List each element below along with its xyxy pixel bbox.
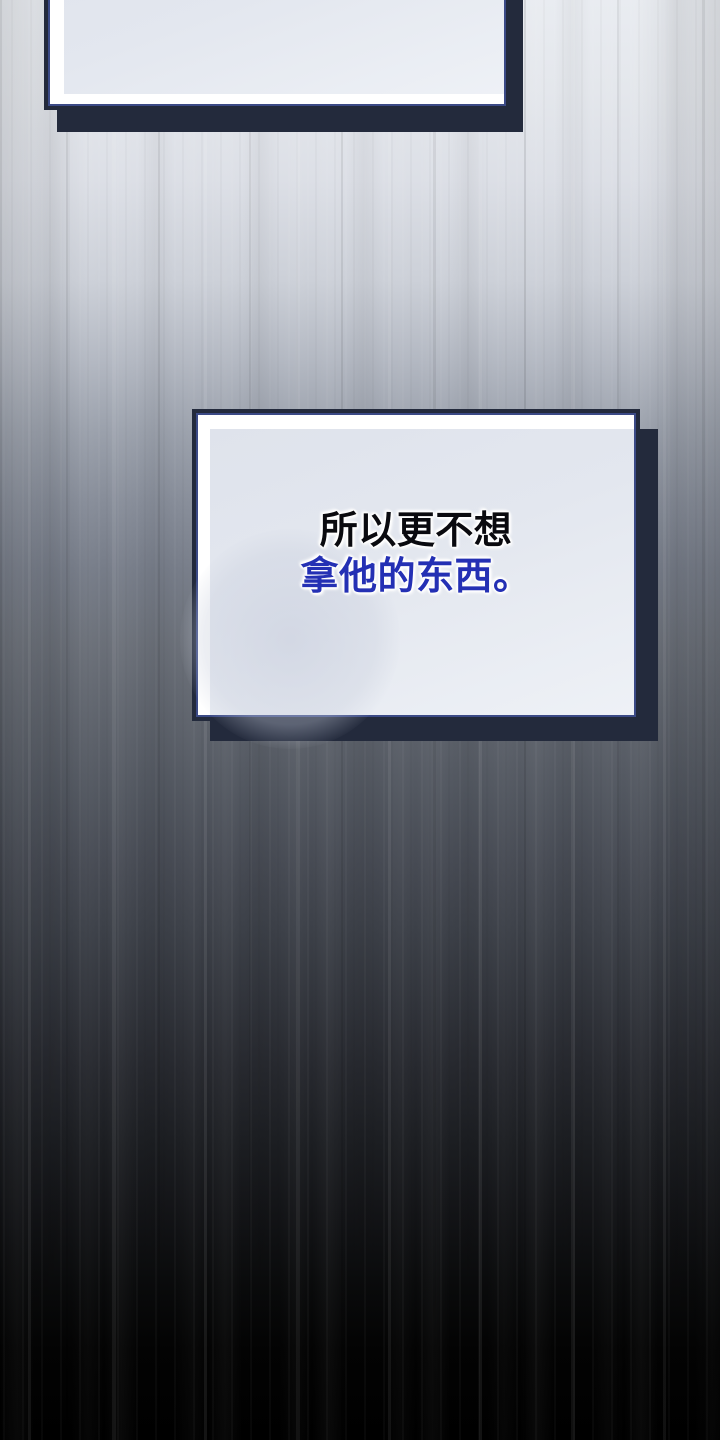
main-speech-bubble-text: 所以更不想 拿他的东西。 bbox=[196, 507, 636, 600]
dialogue-line-2: 拿他的东西。 bbox=[196, 553, 636, 599]
comic-page: 所以更不想 拿他的东西。 bbox=[0, 0, 720, 1440]
top-speech-bubble-fill bbox=[64, 0, 504, 94]
dialogue-line-1: 所以更不想 bbox=[196, 507, 636, 553]
main-speech-bubble: 所以更不想 拿他的东西。 bbox=[192, 409, 640, 721]
top-speech-bubble bbox=[44, 0, 510, 110]
